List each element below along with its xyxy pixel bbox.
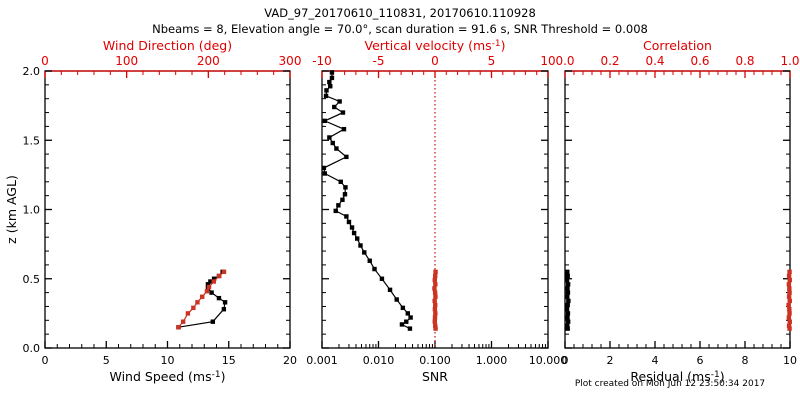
data-point <box>408 315 412 319</box>
data-point <box>400 322 404 326</box>
data-point <box>340 198 344 202</box>
data-point <box>566 311 570 315</box>
data-point <box>343 192 347 196</box>
xtick-label: 6 <box>697 354 704 367</box>
xtick-label: 0.001 <box>306 354 338 367</box>
data-point <box>433 319 437 323</box>
xtick-top-label: -5 <box>373 54 385 68</box>
xtick-label: 4 <box>652 354 659 367</box>
data-point <box>433 311 437 315</box>
panel-right: 02468100.00.20.40.60.81.0CorrelationResi… <box>555 38 799 384</box>
data-point <box>195 300 199 304</box>
data-point <box>368 259 372 263</box>
xtick-top-label: 1.0 <box>780 54 799 68</box>
data-point <box>176 325 180 329</box>
data-point <box>217 274 221 278</box>
xtick-top-label: 0.8 <box>735 54 754 68</box>
data-point <box>358 243 362 247</box>
data-point <box>565 278 569 282</box>
xtick-top-label: 0.2 <box>600 54 619 68</box>
data-point <box>323 171 327 175</box>
data-point <box>787 286 791 290</box>
data-point <box>191 306 195 310</box>
data-point <box>433 326 437 330</box>
panel-middle: 0.0010.0100.1001.00010.000-10-50510Verti… <box>306 38 567 384</box>
data-point <box>342 127 346 131</box>
data-point <box>350 225 354 229</box>
plot-frame-left <box>45 71 290 348</box>
series-snr <box>322 70 413 331</box>
data-point <box>322 166 326 170</box>
axis-title-top: Correlation <box>643 38 712 53</box>
data-point <box>331 141 335 145</box>
data-point <box>566 303 570 307</box>
data-point <box>788 299 792 303</box>
xtick-top-label: 0.0 <box>555 54 574 68</box>
data-point <box>209 290 213 294</box>
xtick-top-label: 100 <box>115 54 138 68</box>
data-point <box>352 231 356 235</box>
xtick-label: 0 <box>42 354 49 367</box>
data-point <box>566 274 570 278</box>
data-point <box>332 105 336 109</box>
xtick-top-label: 300 <box>279 54 302 68</box>
xtick-top-label: 0.6 <box>690 54 709 68</box>
xtick-label: 5 <box>103 354 110 367</box>
series-vertical-velocity <box>432 270 438 331</box>
xtick-label: 0.010 <box>363 354 395 367</box>
xtick-label: 10 <box>783 354 797 367</box>
data-point <box>327 135 331 139</box>
data-point <box>401 306 405 310</box>
series-line <box>324 72 411 328</box>
data-point <box>212 279 216 283</box>
data-point <box>787 326 791 330</box>
data-point <box>344 155 348 159</box>
data-point <box>380 277 384 281</box>
data-point <box>566 326 570 330</box>
ytick-label: 0.5 <box>23 273 41 286</box>
data-point <box>323 119 327 123</box>
data-point <box>330 76 334 80</box>
xtick-label: 0 <box>562 354 569 367</box>
panel-left: 051015200100200300Wind Direction (deg)Wi… <box>23 38 302 384</box>
data-point <box>211 319 215 323</box>
ytick-label: 1.5 <box>23 134 41 147</box>
plot-timestamp: Plot created on Mon Jun 12 23:50:34 2017 <box>540 379 800 389</box>
data-point <box>355 236 359 240</box>
axis-title-bottom: Wind Speed (ms-1) <box>110 369 226 384</box>
data-point <box>388 288 392 292</box>
data-point <box>339 180 343 184</box>
xtick-label: 15 <box>222 354 236 367</box>
xtick-top-label: 10 <box>540 54 555 68</box>
xtick-top-label: 5 <box>488 54 496 68</box>
xtick-top-label: 0 <box>41 54 49 68</box>
data-point <box>408 326 412 330</box>
data-point <box>395 297 399 301</box>
data-point <box>433 303 437 307</box>
data-point <box>432 299 436 303</box>
xtick-top-label: 0 <box>431 54 439 68</box>
data-point <box>205 289 209 293</box>
data-point <box>565 315 569 319</box>
data-point <box>341 110 345 114</box>
data-point <box>433 282 437 286</box>
data-point <box>788 278 792 282</box>
data-point <box>222 270 226 274</box>
data-point <box>786 303 790 307</box>
xtick-label: 10 <box>161 354 175 367</box>
data-point <box>787 290 791 294</box>
data-point <box>433 307 437 311</box>
xtick-label: 20 <box>283 354 297 367</box>
data-point <box>566 299 570 303</box>
data-point <box>207 285 211 289</box>
data-point <box>200 295 204 299</box>
data-point <box>433 270 437 274</box>
data-point <box>324 88 328 92</box>
xtick-label: 2 <box>607 354 614 367</box>
xtick-top-label: 200 <box>197 54 220 68</box>
data-point <box>565 286 569 290</box>
data-point <box>330 70 334 74</box>
data-point <box>372 267 376 271</box>
data-point <box>433 274 437 278</box>
data-point <box>433 295 437 299</box>
data-point <box>565 307 569 311</box>
xtick-label: 0.100 <box>419 354 451 367</box>
xtick-label: 1.000 <box>476 354 508 367</box>
data-point <box>406 311 410 315</box>
data-point <box>787 311 791 315</box>
data-point <box>404 319 408 323</box>
data-point <box>186 311 190 315</box>
data-point <box>433 290 437 294</box>
vad-figure: 051015200100200300Wind Direction (deg)Wi… <box>0 0 800 400</box>
data-point <box>324 94 328 98</box>
data-point <box>565 270 569 274</box>
data-point <box>347 220 351 224</box>
data-point <box>334 209 338 213</box>
axis-title-y: z (km AGL) <box>4 175 19 244</box>
ytick-label: 0.0 <box>23 342 41 355</box>
plot-frame-right <box>565 71 790 348</box>
data-point <box>787 307 791 311</box>
data-point <box>787 270 791 274</box>
xtick-label: 8 <box>742 354 749 367</box>
data-point <box>787 315 791 319</box>
data-point <box>327 80 331 84</box>
data-point <box>334 146 338 150</box>
data-point <box>433 315 437 319</box>
data-point <box>566 290 570 294</box>
data-point <box>343 185 347 189</box>
data-point <box>362 250 366 254</box>
data-point <box>565 295 569 299</box>
axis-title-bottom: SNR <box>422 369 448 384</box>
xtick-top-label: -10 <box>312 54 332 68</box>
data-point <box>222 307 226 311</box>
data-point <box>787 295 791 299</box>
data-point <box>787 282 791 286</box>
data-point <box>328 84 332 88</box>
axis-title-top: Vertical velocity (ms-1) <box>364 38 505 53</box>
data-point <box>432 286 436 290</box>
axis-title-top: Wind Direction (deg) <box>103 38 232 53</box>
ytick-label: 2.0 <box>23 65 41 78</box>
data-point <box>433 278 437 282</box>
data-point <box>344 214 348 218</box>
data-point <box>566 319 570 323</box>
data-point <box>181 319 185 323</box>
ytick-label: 1.0 <box>23 204 41 217</box>
data-point <box>787 274 791 278</box>
data-point <box>337 99 341 103</box>
data-point <box>566 282 570 286</box>
data-point <box>336 203 340 207</box>
data-point <box>223 300 227 304</box>
xtick-top-label: 0.4 <box>645 54 664 68</box>
data-point <box>217 296 221 300</box>
data-point <box>788 319 792 323</box>
